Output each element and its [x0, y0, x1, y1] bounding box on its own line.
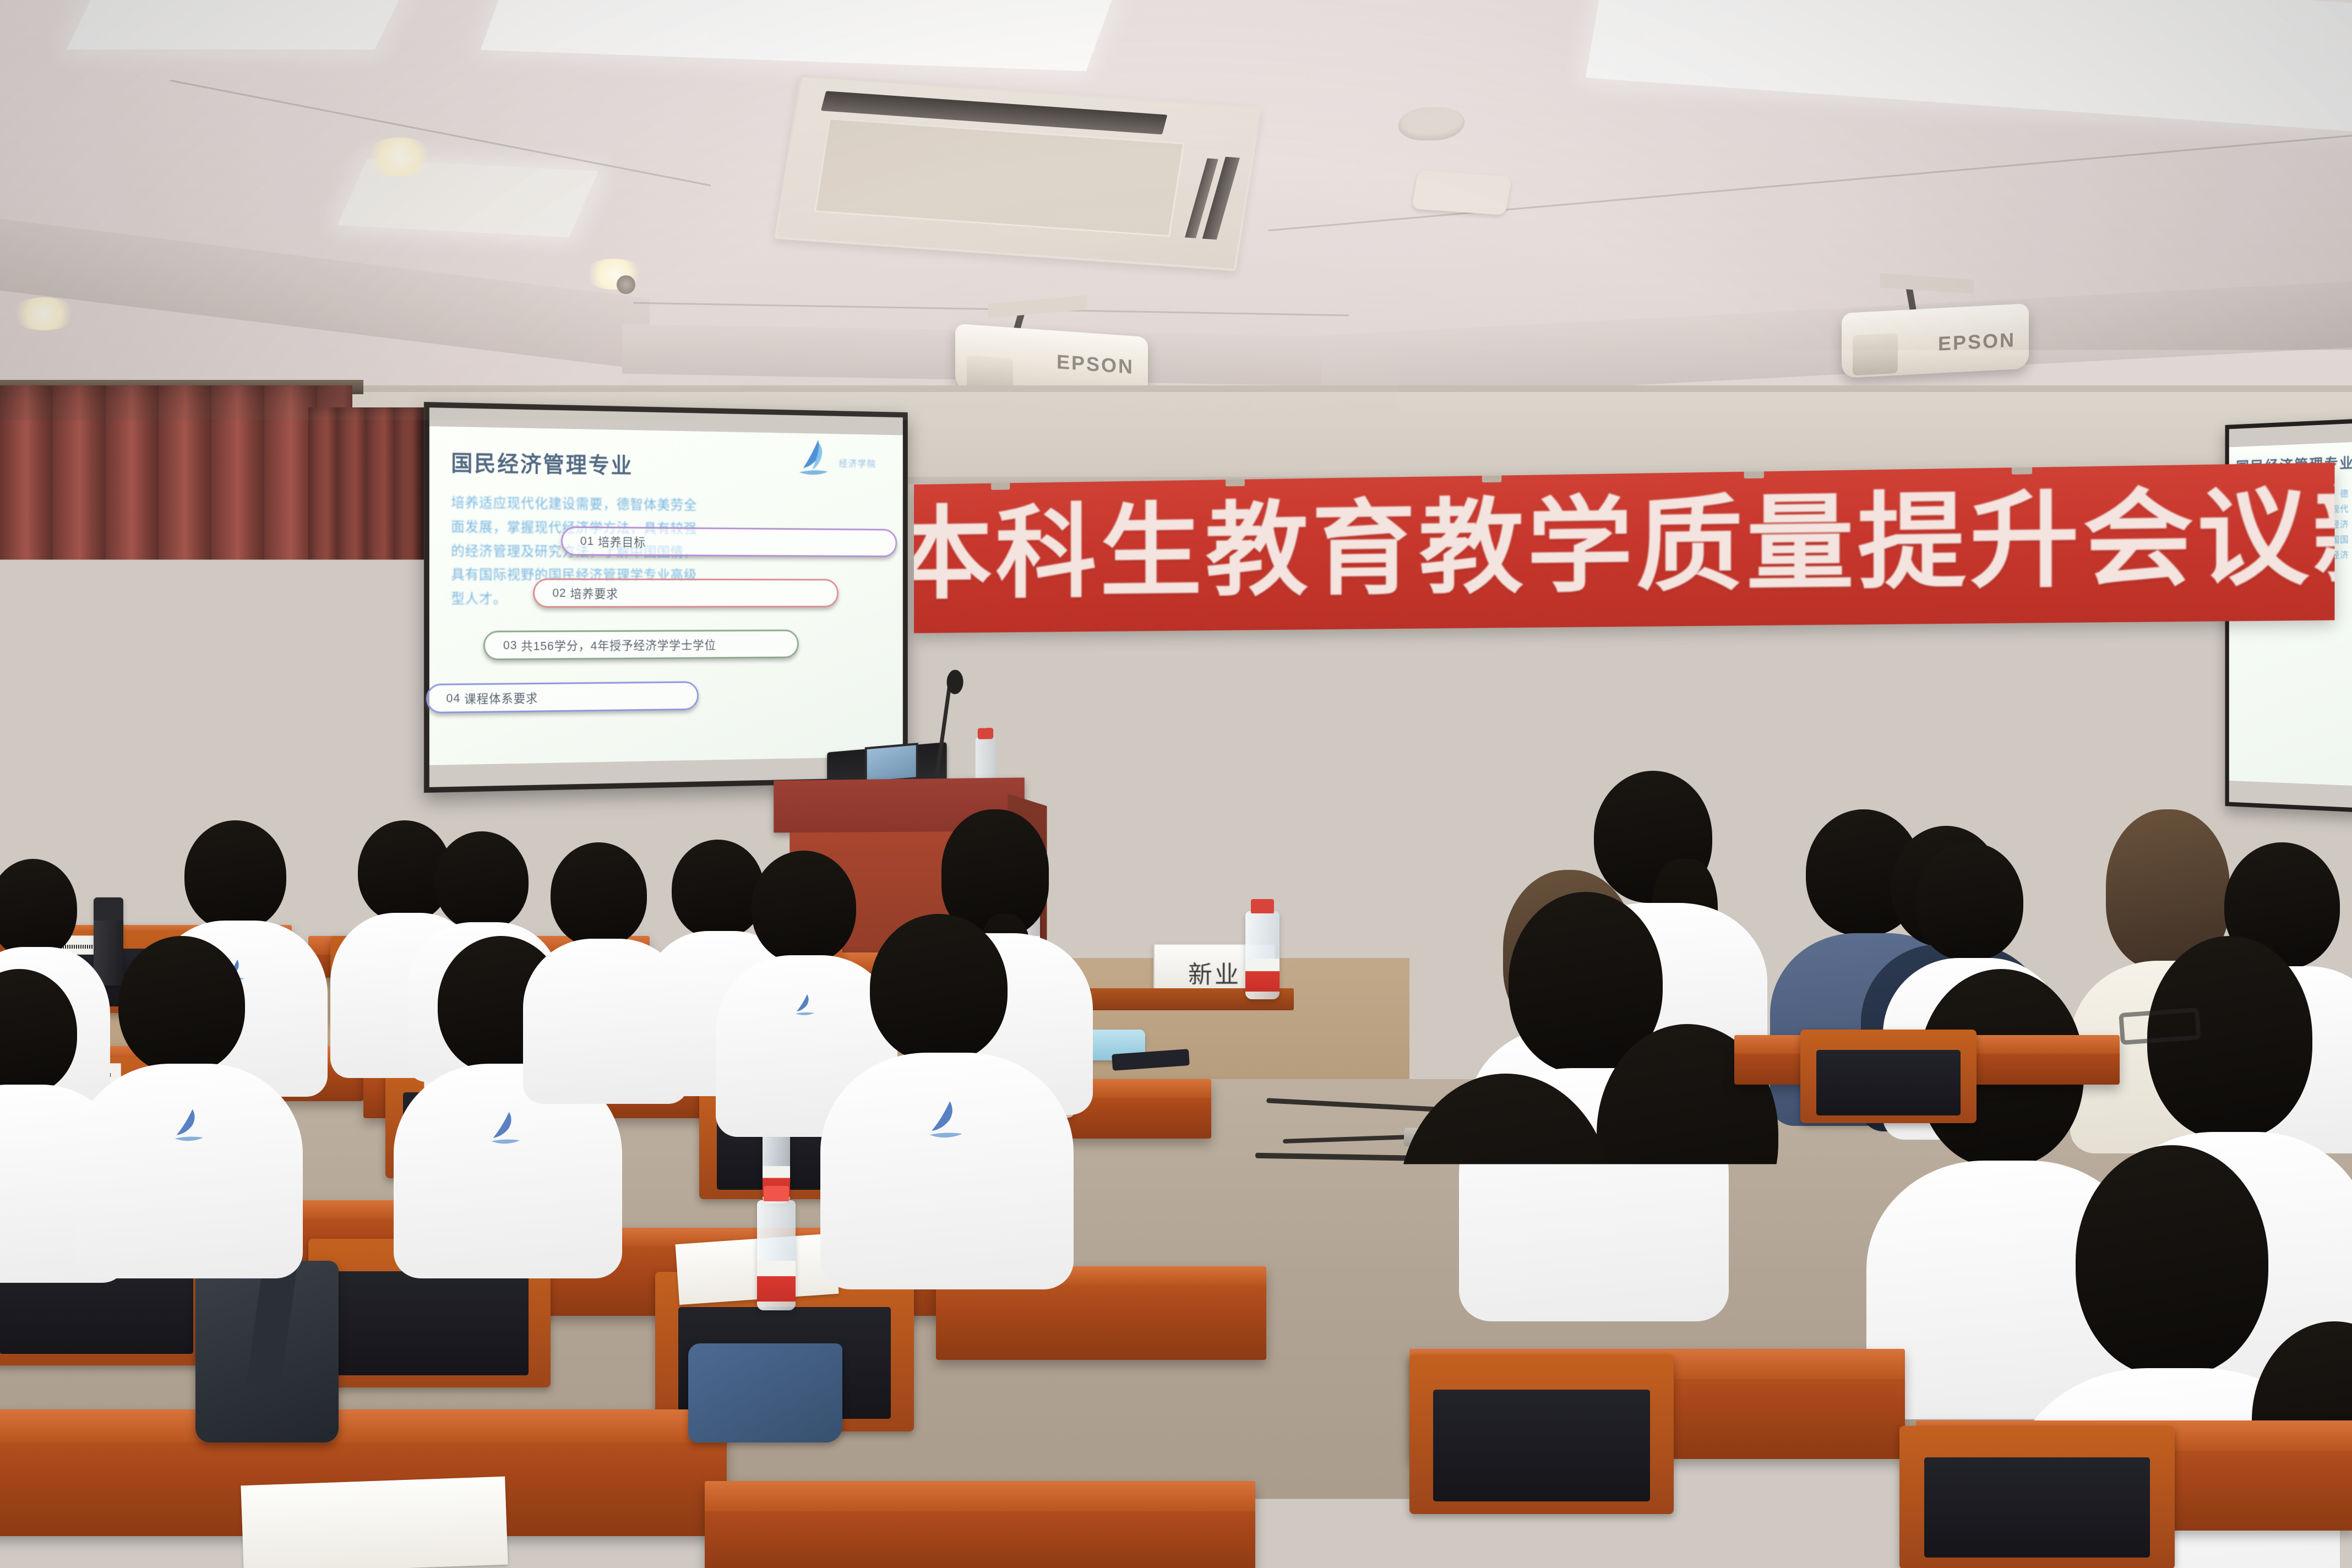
- water-bottle: [757, 1200, 796, 1310]
- air-conditioner-unit: [774, 75, 1261, 271]
- photo-scene: EPSON EPSON: [0, 0, 2352, 1568]
- chair: [1899, 1426, 2175, 1568]
- pill-num: 02: [552, 586, 566, 600]
- presenter-hand: [279, 831, 311, 870]
- pill-label: 课程体系要求: [464, 689, 538, 707]
- slide-content: 经济学院 国民经济管理专业 培养适应现代化建设需要，德智体美劳全面发展，掌握现代…: [429, 426, 903, 765]
- bottle-cap: [1251, 899, 1274, 913]
- ceiling-speaker: [1412, 170, 1512, 215]
- school-logo-icon: [925, 1098, 969, 1142]
- student: [837, 914, 1057, 1255]
- ac-face: [814, 118, 1185, 237]
- water-bottle: [976, 737, 995, 783]
- sprinkler-icon: [617, 275, 635, 294]
- slide-pill-item: 03 共156学分，4年授予经济学学士学位: [483, 629, 799, 660]
- slide-pill-item: 02 培养要求: [533, 578, 839, 607]
- ceiling-light-panel: [67, 0, 407, 50]
- desk: [705, 1481, 1255, 1568]
- water-bottle: [1245, 911, 1280, 999]
- pill-num: 04: [446, 691, 460, 705]
- pill-label: 培养要求: [570, 584, 618, 601]
- slide-pill-item: 01 培养目标: [561, 526, 897, 557]
- eyeglasses-icon: [2119, 1008, 2201, 1045]
- chair: [1409, 1354, 1674, 1514]
- pill-label: 培养目标: [598, 532, 646, 550]
- school-logo-icon: [793, 993, 818, 1018]
- eyeglasses-icon: [170, 695, 240, 712]
- projector-brand-label: EPSON: [1938, 328, 2016, 355]
- projection-screen-main: 经济学院 国民经济管理专业 培养适应现代化建设需要，德智体美劳全面发展，掌握现代…: [424, 402, 908, 793]
- student: [529, 842, 683, 1074]
- slide-pill-item: 04 课程体系要求: [426, 681, 699, 714]
- conference-banner: 本科生教育教学质量提升会议新生专题研讨会: [914, 462, 2334, 633]
- school-logo-icon: [487, 1109, 526, 1148]
- laptop-screen: [865, 743, 918, 783]
- downlight-icon: [363, 138, 435, 176]
- chair: [1800, 1030, 1977, 1123]
- pill-label: 共156学分，4年授予经济学学士学位: [521, 636, 716, 654]
- banner-text: 本科生教育教学质量提升会议新生专题研讨会: [914, 482, 2334, 605]
- school-logo-icon: [171, 1107, 209, 1145]
- pill-num: 01: [580, 534, 594, 548]
- student: [88, 936, 286, 1244]
- handout-paper: [241, 1477, 508, 1568]
- folded-jacket: [688, 1343, 842, 1442]
- presenter: [127, 650, 314, 958]
- projector-right: EPSON: [1842, 308, 2029, 373]
- school-logo-icon: [229, 815, 244, 834]
- bottle-label: [1245, 959, 1280, 992]
- downlight-icon: [11, 297, 77, 330]
- slide-pill-list: 01 培养目标 02 培养要求 03 共156学分，4年授予经济学学士学位 04…: [561, 526, 897, 734]
- pill-num: 03: [503, 638, 518, 652]
- projector-lens: [1853, 333, 1898, 375]
- backpack: [195, 1261, 339, 1442]
